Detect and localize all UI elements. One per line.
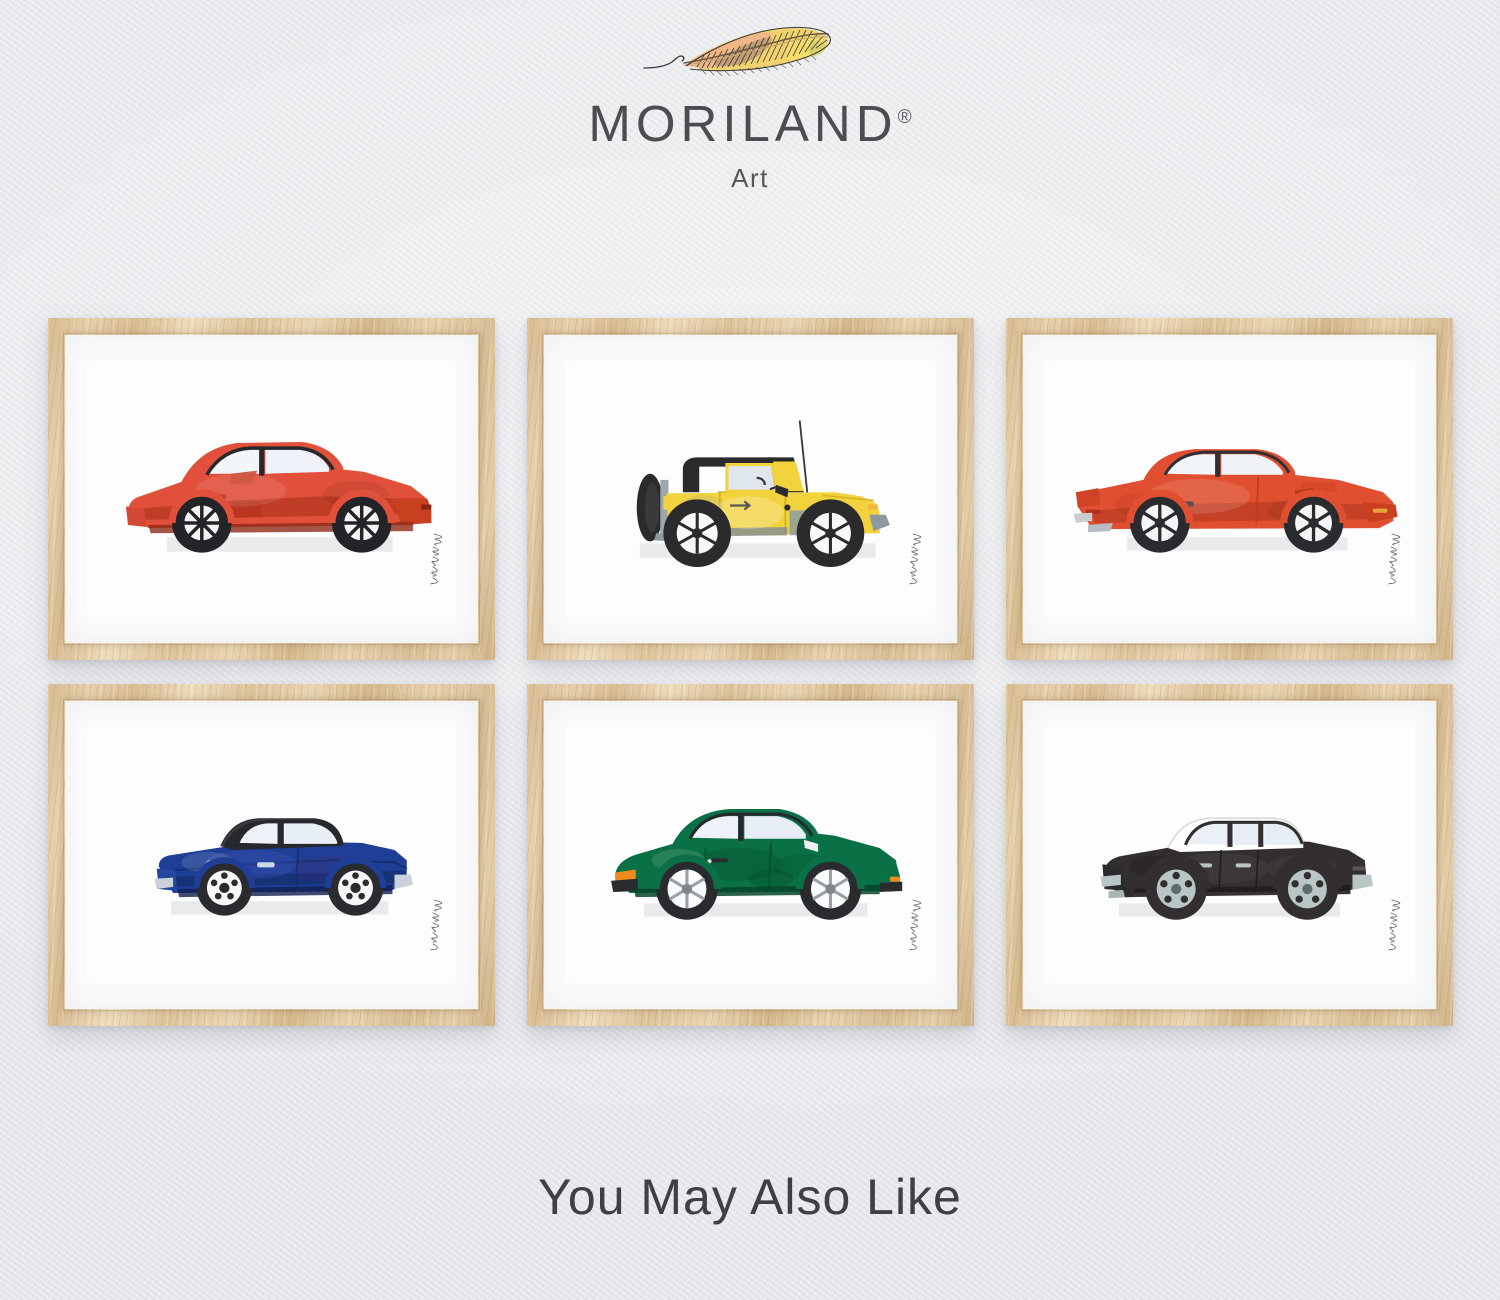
print-mat [1023,335,1436,643]
print-mat [544,701,957,1009]
print-surface [1045,361,1414,617]
artwork-blue-nova [87,727,456,983]
print-mat [1023,701,1436,1009]
framed-print-red-mustang[interactable] [48,318,495,660]
framed-print-blue-nova[interactable] [48,684,495,1026]
framed-print-green-porsche[interactable] [527,684,974,1026]
artwork-black-sedan [1045,727,1414,983]
artwork-red-mustang [87,361,456,617]
artwork-green-porsche [566,727,935,983]
print-surface [566,361,935,617]
print-surface [87,361,456,617]
print-surface [87,727,456,983]
print-mat [544,335,957,643]
artwork-red-firebird [1045,361,1414,617]
poster-mockup-canvas: MORILAND® Art [0,0,1500,1300]
framed-print-yellow-jeep[interactable] [527,318,974,660]
print-mat [65,335,478,643]
framed-print-black-sedan[interactable] [1006,684,1453,1026]
framed-print-gallery [0,0,1500,1300]
print-mat [65,701,478,1009]
wheel-front [797,499,865,567]
print-surface [566,727,935,983]
framed-print-red-firebird[interactable] [1006,318,1453,660]
you-may-also-like-heading: You May Also Like [0,1168,1500,1226]
artwork-yellow-jeep [566,361,935,617]
wheel-rear [663,499,731,567]
print-surface [1045,727,1414,983]
